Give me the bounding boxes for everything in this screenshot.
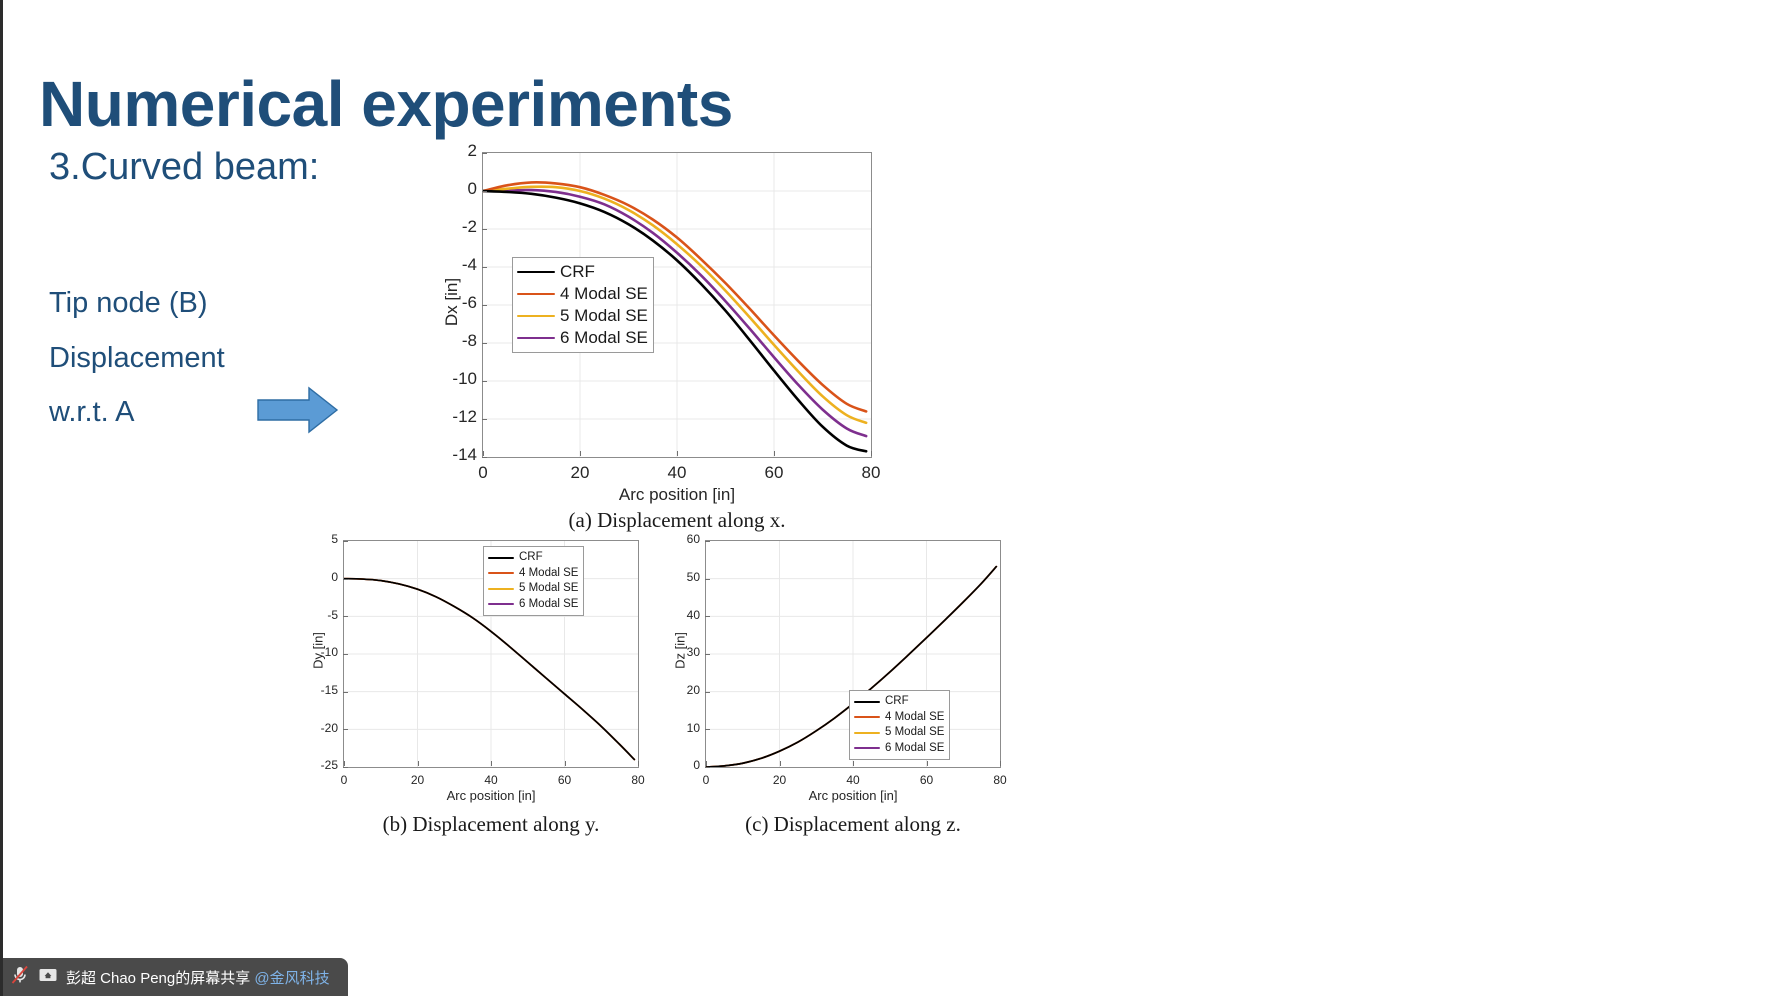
y-tick-label: 50	[678, 570, 700, 584]
x-tick-label: 20	[390, 773, 446, 787]
x-tick-mark	[638, 761, 639, 766]
y-tick-label: -25	[314, 758, 338, 772]
y-tick-label: 30	[678, 645, 700, 659]
legend-item: 4 Modal SE	[488, 566, 578, 582]
x-axis-label-a: Arc position [in]	[482, 485, 872, 505]
legend-label: 4 Modal SE	[560, 283, 648, 305]
y-tick-mark	[343, 541, 348, 542]
x-tick-mark	[677, 451, 678, 456]
legend-color-swatch	[854, 732, 880, 734]
legend-label: 6 Modal SE	[885, 741, 944, 757]
page-title: Numerical experiments	[39, 69, 733, 139]
x-tick-mark	[580, 451, 581, 456]
x-tick-mark	[1000, 761, 1001, 766]
y-tick-label: 10	[678, 721, 700, 735]
microphone-muted-icon[interactable]	[9, 964, 31, 991]
bullet-text-3: w.r.t. A	[49, 396, 134, 429]
figure-displacement-x: Dx [in] Arc position [in] 20-2-4-6-8-10-…	[423, 140, 893, 540]
y-tick-mark	[705, 541, 710, 542]
x-tick-mark	[483, 451, 484, 456]
legend-item: CRF	[854, 694, 944, 710]
legend-color-swatch	[517, 337, 555, 340]
legend-color-swatch	[517, 293, 555, 296]
x-tick-label: 0	[455, 463, 511, 483]
x-tick-mark	[853, 761, 854, 766]
x-axis-label-c: Arc position [in]	[705, 788, 1001, 803]
y-tick-mark	[482, 191, 487, 192]
y-tick-mark	[343, 767, 348, 768]
legend-item: 5 Modal SE	[517, 305, 648, 327]
x-tick-label: 60	[537, 773, 593, 787]
legend-label: CRF	[560, 261, 595, 283]
legend-item: 6 Modal SE	[488, 597, 578, 613]
legend-item: 6 Modal SE	[517, 327, 648, 349]
legend-label: 5 Modal SE	[519, 581, 578, 597]
screen-share-icon[interactable]	[37, 964, 59, 991]
y-tick-mark	[705, 654, 710, 655]
x-tick-label: 0	[678, 773, 734, 787]
x-tick-label: 40	[649, 463, 705, 483]
legend-item: 5 Modal SE	[854, 725, 944, 741]
y-tick-mark	[705, 616, 710, 617]
section-subtitle: 3.Curved beam:	[49, 146, 319, 189]
presentation-slide: Numerical experiments 3.Curved beam: Tip…	[0, 0, 1768, 996]
y-tick-mark	[482, 381, 487, 382]
bullet-text-2: Displacement	[49, 342, 225, 375]
x-tick-mark	[871, 451, 872, 456]
x-tick-mark	[565, 761, 566, 766]
legend-color-swatch	[488, 572, 514, 574]
legend-label: CRF	[885, 694, 909, 710]
y-tick-mark	[343, 616, 348, 617]
y-tick-label: -2	[441, 217, 477, 237]
legend-color-swatch	[488, 603, 514, 605]
legend-label: 4 Modal SE	[519, 566, 578, 582]
y-tick-mark	[482, 457, 487, 458]
y-tick-mark	[482, 229, 487, 230]
legend-color-swatch	[854, 716, 880, 718]
x-axis-label-b: Arc position [in]	[343, 788, 639, 803]
legend-label: 5 Modal SE	[560, 305, 648, 327]
y-tick-mark	[482, 267, 487, 268]
y-tick-label: -15	[314, 683, 338, 697]
screenshare-status-text: 彭超 Chao Peng的屏幕共享 @金风科技	[66, 967, 330, 988]
figure-caption-b: (b) Displacement along y.	[343, 812, 639, 837]
y-tick-label: -12	[441, 407, 477, 427]
chart-legend: CRF4 Modal SE5 Modal SE6 Modal SE	[483, 546, 584, 616]
x-tick-label: 40	[463, 773, 519, 787]
x-tick-mark	[418, 761, 419, 766]
x-tick-mark	[780, 761, 781, 766]
figure-displacement-y: Dy [in] Arc position [in] 50-5-10-15-20-…	[293, 530, 653, 820]
x-tick-mark	[706, 761, 707, 766]
y-tick-mark	[343, 654, 348, 655]
y-tick-mark	[482, 343, 487, 344]
x-tick-mark	[344, 761, 345, 766]
y-tick-mark	[343, 692, 348, 693]
y-tick-label: 2	[441, 141, 477, 161]
x-tick-label: 80	[843, 463, 899, 483]
legend-color-swatch	[488, 588, 514, 590]
y-tick-mark	[482, 153, 487, 154]
y-tick-mark	[482, 305, 487, 306]
legend-item: 4 Modal SE	[517, 283, 648, 305]
y-tick-label: 0	[678, 758, 700, 772]
figure-caption-c: (c) Displacement along z.	[705, 812, 1001, 837]
y-tick-label: -10	[441, 369, 477, 389]
x-tick-label: 20	[552, 463, 608, 483]
right-arrow-icon	[257, 386, 339, 434]
screenshare-org-name: @金风科技	[254, 970, 329, 987]
y-tick-mark	[705, 692, 710, 693]
y-tick-label: -5	[314, 608, 338, 622]
y-tick-label: -8	[441, 331, 477, 351]
x-tick-label: 20	[752, 773, 808, 787]
y-tick-label: -6	[441, 293, 477, 313]
bullet-text-1: Tip node (B)	[49, 287, 208, 320]
x-tick-label: 80	[972, 773, 1028, 787]
y-tick-label: 0	[314, 570, 338, 584]
y-tick-mark	[705, 579, 710, 580]
x-tick-mark	[927, 761, 928, 766]
legend-color-swatch	[517, 315, 555, 318]
legend-item: CRF	[488, 550, 578, 566]
y-tick-label: 0	[441, 179, 477, 199]
y-tick-label: -14	[441, 445, 477, 465]
legend-color-swatch	[488, 557, 514, 559]
y-tick-label: 40	[678, 608, 700, 622]
legend-color-swatch	[517, 271, 555, 274]
legend-item: 6 Modal SE	[854, 741, 944, 757]
chart-legend: CRF4 Modal SE5 Modal SE6 Modal SE	[512, 257, 654, 353]
y-tick-label: 60	[678, 532, 700, 546]
legend-color-swatch	[854, 747, 880, 749]
x-tick-label: 60	[899, 773, 955, 787]
legend-label: 4 Modal SE	[885, 710, 944, 726]
y-tick-label: -20	[314, 721, 338, 735]
y-tick-label: -10	[314, 645, 338, 659]
y-tick-mark	[705, 767, 710, 768]
legend-color-swatch	[854, 701, 880, 703]
y-tick-label: 20	[678, 683, 700, 697]
legend-item: 4 Modal SE	[854, 710, 944, 726]
zoom-screenshare-taskbar[interactable]: 彭超 Chao Peng的屏幕共享 @金风科技	[3, 958, 348, 996]
x-tick-mark	[774, 451, 775, 456]
legend-item: CRF	[517, 261, 648, 283]
y-tick-label: 5	[314, 532, 338, 546]
x-tick-label: 40	[825, 773, 881, 787]
legend-label: 6 Modal SE	[560, 327, 648, 349]
legend-label: 5 Modal SE	[885, 725, 944, 741]
y-tick-mark	[705, 729, 710, 730]
x-tick-label: 0	[316, 773, 372, 787]
y-tick-mark	[482, 419, 487, 420]
legend-label: 6 Modal SE	[519, 597, 578, 613]
screenshare-host-name: 彭超 Chao Peng的屏幕共享	[66, 970, 254, 987]
chart-legend: CRF4 Modal SE5 Modal SE6 Modal SE	[849, 690, 950, 760]
x-tick-label: 60	[746, 463, 802, 483]
legend-item: 5 Modal SE	[488, 581, 578, 597]
y-tick-label: -4	[441, 255, 477, 275]
y-tick-mark	[343, 729, 348, 730]
figure-displacement-z: Dz [in] Arc position [in] 60504030201000…	[653, 530, 1013, 820]
y-tick-mark	[343, 579, 348, 580]
legend-label: CRF	[519, 550, 543, 566]
x-tick-mark	[491, 761, 492, 766]
